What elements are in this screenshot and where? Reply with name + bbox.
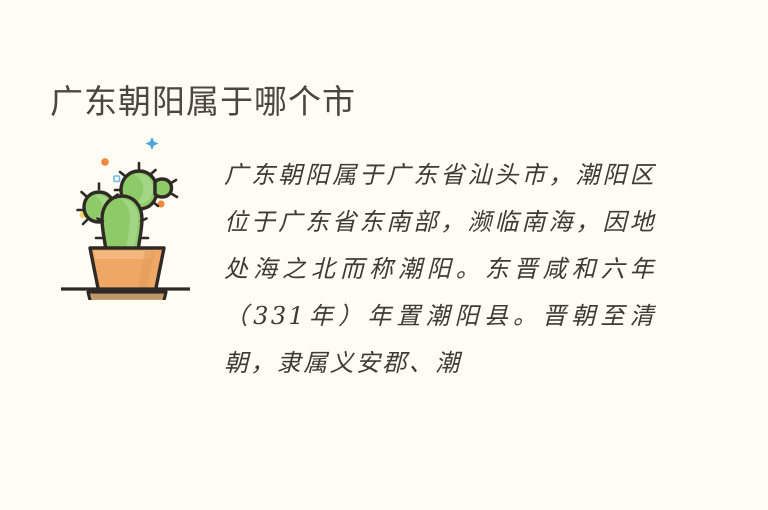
pot-saucer (88, 292, 166, 300)
cactus-nub (155, 179, 177, 197)
dot-blue-small-icon (114, 176, 120, 182)
page-root: 广东朝阳属于哪个市 (0, 0, 768, 510)
page-title: 广东朝阳属于哪个市 (50, 80, 356, 124)
article-body-text: 广东朝阳属于广东省汕头市，潮阳区位于广东省东南部，濒临南海，因地处海之北而称潮阳… (224, 152, 656, 392)
dot-orange-top-icon (101, 158, 109, 166)
potted-cactus-illustration (52, 128, 202, 300)
cactus-icon (52, 128, 202, 300)
flower-pot (90, 248, 164, 293)
sparkle-blue-icon (146, 137, 159, 150)
